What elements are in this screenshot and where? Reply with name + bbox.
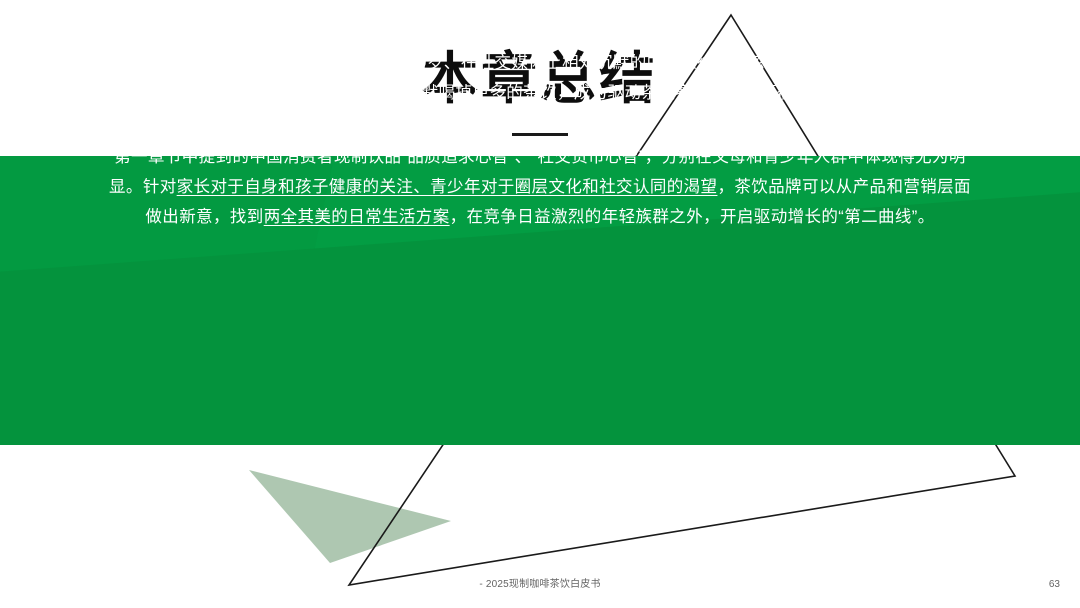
slide-本章总结: 本章总结 在茶饮品牌普遍关注年轻人的当下，40-49岁、在社交媒体上相对沉默的中… (0, 0, 1080, 608)
text-run: ，在竞争日益激烈的年轻族群之外，开启驱动增长的“第二曲线”。 (450, 208, 935, 226)
page-number: 63 (1049, 578, 1060, 592)
underlined-phrase: 家长对于自身和孩子健康的关注、青少年对于圈层文化和社交认同的渴望 (177, 178, 718, 196)
footer-source-note: - 2025现制咖啡茶饮白皮书 (0, 578, 1080, 592)
summary-text-block: 在茶饮品牌普遍关注年轻人的当下，40-49岁、在社交媒体上相对沉默的中年人往往被… (104, 0, 976, 232)
summary-paragraph-2: 第一章节中提到的中国消费者现制饮品“品质追求心智”、“社交货币心智”，分别在父母… (104, 108, 976, 232)
underlined-phrase: 两全其美的日常生活方案 (264, 208, 450, 226)
summary-paragraph-1: 在茶饮品牌普遍关注年轻人的当下，40-49岁、在社交媒体上相对沉默的中年人往往被… (104, 0, 976, 108)
footer: - 2025现制咖啡茶饮白皮书 63 (0, 578, 1080, 600)
sage-filled-triangle (249, 470, 451, 563)
text-run: 在茶饮品牌普遍关注年轻人的当下，40-49岁、在社交媒体上相对沉默的中年人往往被… (112, 54, 967, 102)
